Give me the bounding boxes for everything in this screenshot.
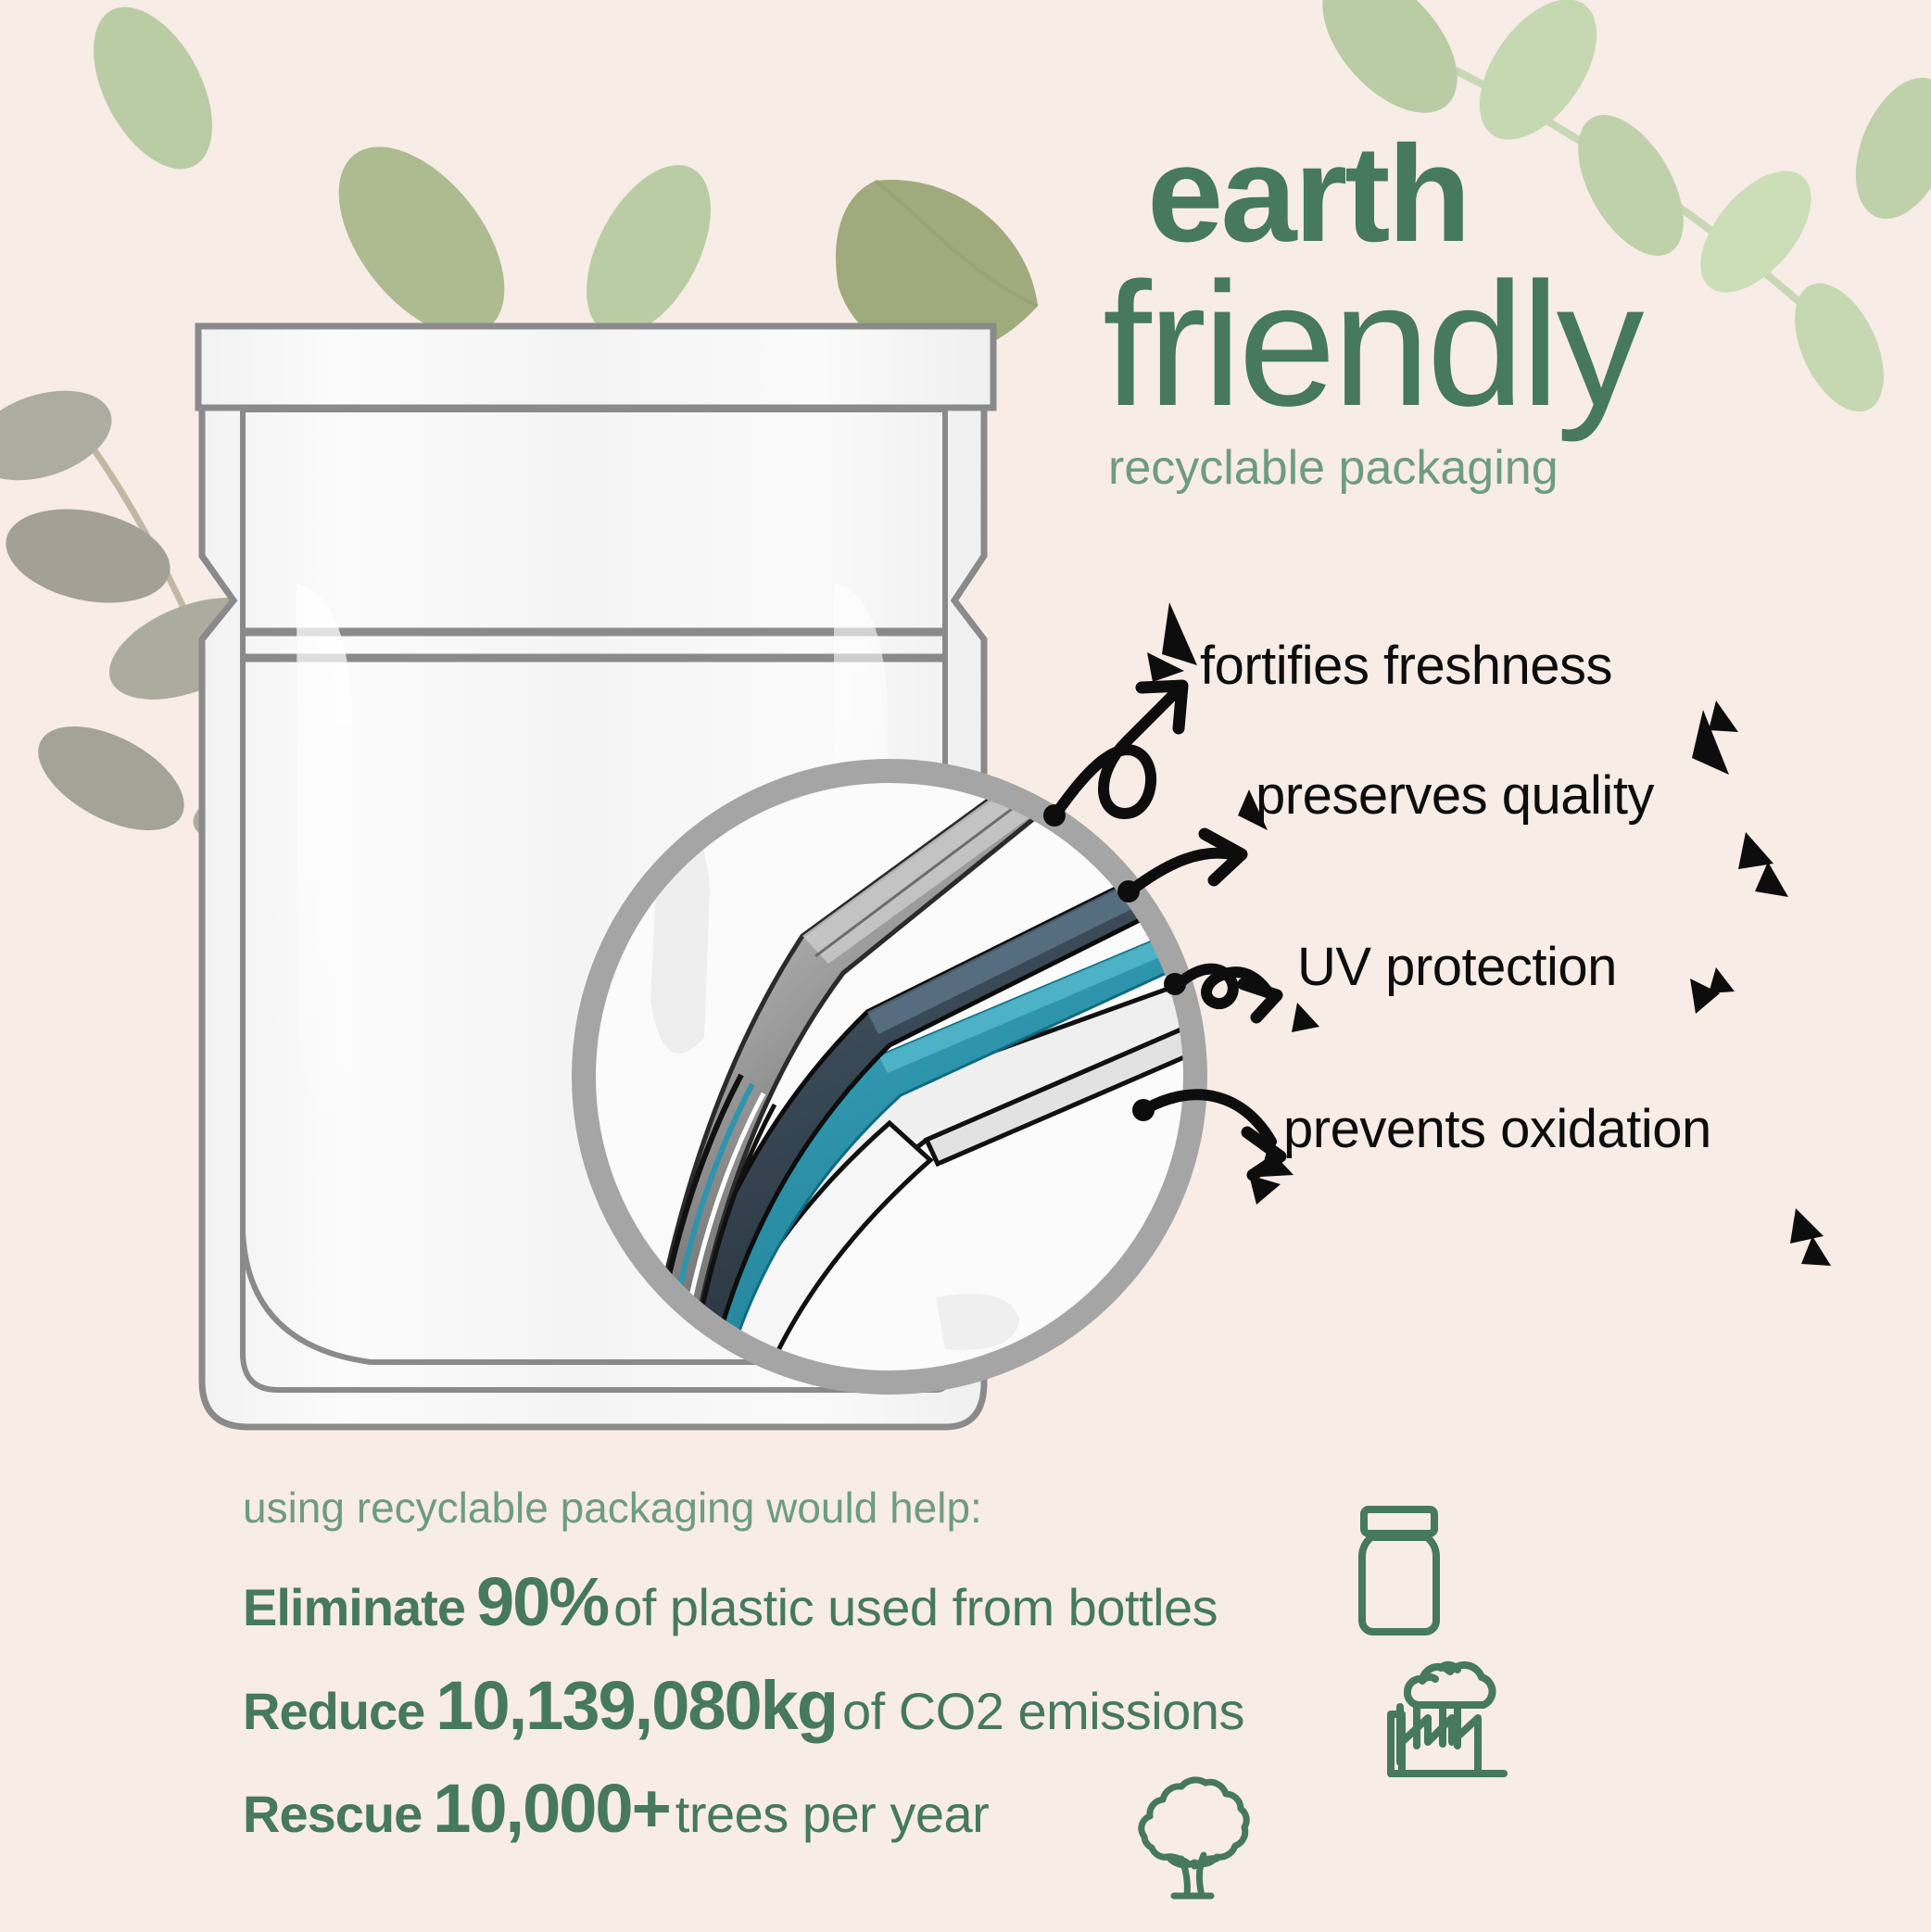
feature-label-uv-protection: UV protection [1297, 936, 1617, 998]
stat-verb: Reduce [243, 1682, 424, 1740]
factory-icon [1376, 1649, 1524, 1798]
stat-number: 10,139,080kg [435, 1667, 837, 1744]
callout-arrow-3-head [1243, 984, 1277, 1017]
callout-anchor-dot [1132, 1099, 1155, 1121]
sparkle-icon [1249, 1175, 1281, 1205]
stat-verb: Rescue [243, 1785, 422, 1843]
stat-verb: Eliminate [243, 1578, 465, 1636]
stat-number: 90% [476, 1563, 608, 1640]
headline-subtitle: recyclable packaging [1108, 440, 1918, 496]
stat-tail: of plastic used from bottles [613, 1578, 1218, 1636]
sparkle-icon [1790, 1208, 1824, 1244]
callout-anchor-dot [1164, 973, 1186, 995]
infographic-canvas: earth friendly recyclable packaging fort… [0, 0, 1931, 1932]
bottle-icon [1334, 1506, 1473, 1640]
headline-friendly: friendly [1103, 264, 1918, 426]
callout-anchor-dot [1117, 880, 1140, 903]
feature-label-prevents-oxidation: prevents oxidation [1283, 1098, 1711, 1160]
stat-tail: trees per year [675, 1785, 990, 1843]
headline-block: earth friendly recyclable packaging [1103, 130, 1918, 496]
tree-icon [1117, 1770, 1265, 1909]
feature-label-preserves-quality: preserves quality [1256, 764, 1654, 827]
callout-arrow-1 [1056, 689, 1179, 814]
sparkle-icon [1709, 967, 1735, 993]
stat-number: 10,000+ [433, 1770, 670, 1847]
feature-label-fortifies-freshness: fortifies freshness [1200, 635, 1612, 697]
sparkle-icon [1162, 602, 1197, 665]
stat-tail: of CO2 emissions [842, 1682, 1244, 1740]
sparkle-icon [1801, 1236, 1831, 1266]
sparkle-icon [1755, 862, 1788, 897]
sparkle-icon [1292, 1003, 1319, 1032]
callout-anchor-dot [1043, 804, 1066, 827]
sparkle-icon [1709, 701, 1738, 732]
headline-earth: earth [1147, 130, 1918, 260]
